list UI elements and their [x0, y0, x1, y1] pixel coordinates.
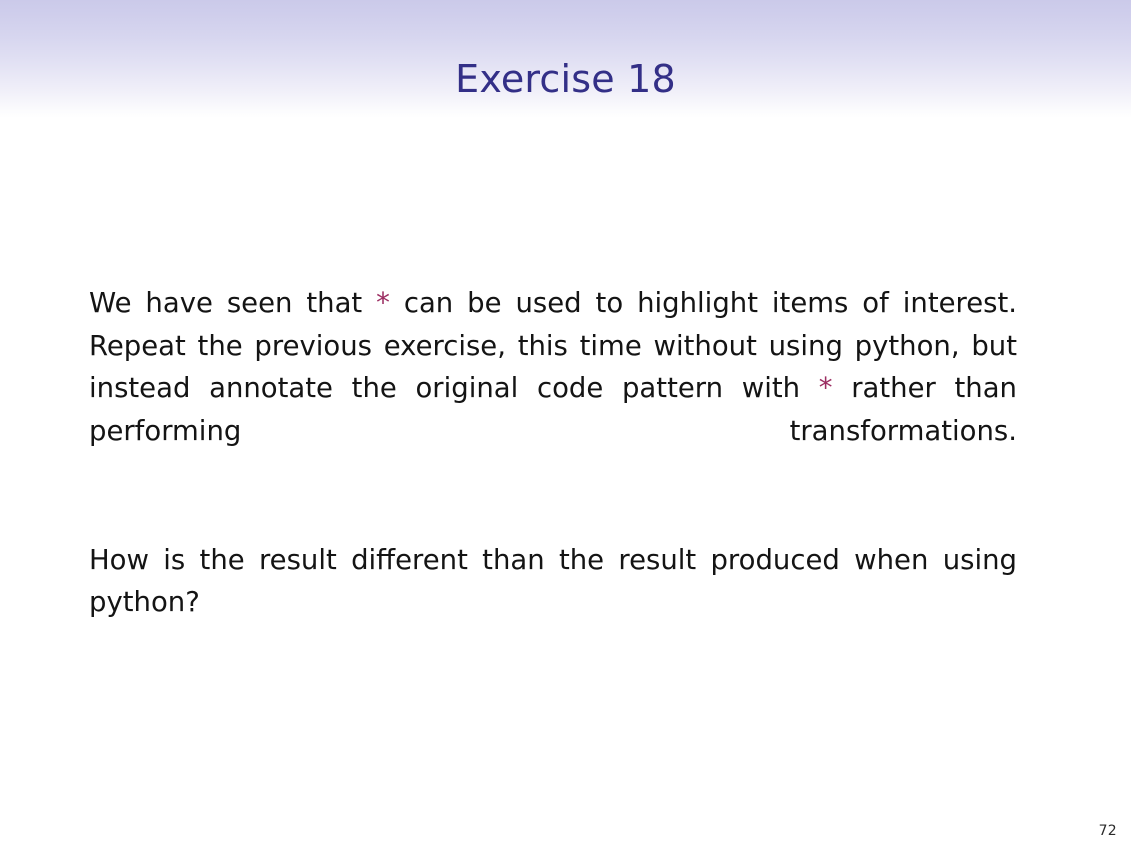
page-number: 72 — [1099, 824, 1117, 838]
body-paragraph-1: We have seen that * can be used to highl… — [89, 282, 1017, 495]
asterisk-accent-icon-2: * — [819, 372, 833, 404]
body-paragraph-2: How is the result different than the res… — [89, 539, 1017, 667]
presentation-slide: Exercise 18 We have seen that * can be u… — [0, 0, 1131, 848]
page-title: Exercise 18 — [0, 60, 1131, 98]
paragraph-2-text: How is the result different than the res… — [89, 544, 1017, 619]
paragraph-1-segment-1: We have seen that — [89, 287, 376, 319]
slide-body-content: We have seen that * can be used to highl… — [89, 282, 1017, 666]
asterisk-accent-icon-1: * — [376, 287, 390, 319]
